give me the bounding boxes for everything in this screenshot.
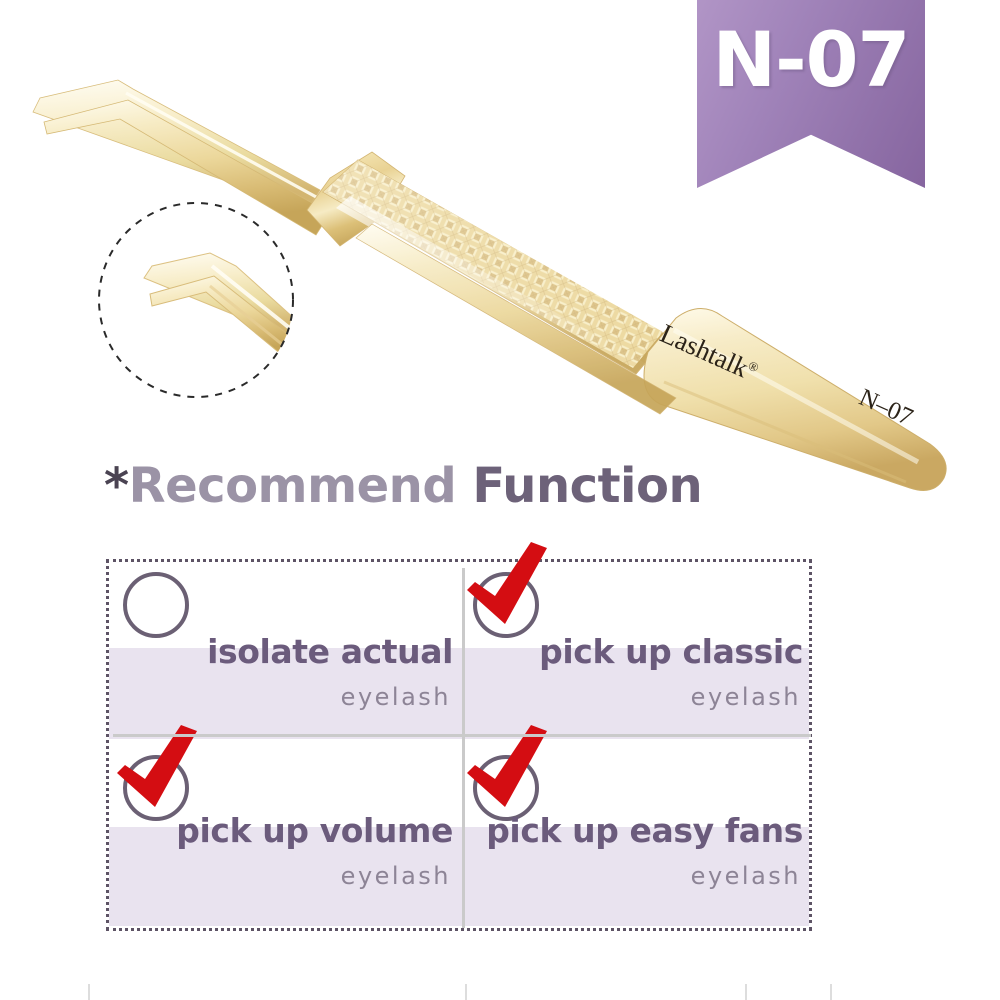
feature-title: pick up classic xyxy=(539,632,803,671)
red-check-icon xyxy=(461,540,565,644)
bottom-tick-mark xyxy=(465,984,467,1000)
marker-unchecked[interactable] xyxy=(121,570,193,642)
feature-title: pick up volume xyxy=(176,811,453,850)
bottom-tick-mark xyxy=(830,984,832,1000)
marker-checked[interactable] xyxy=(471,570,543,642)
feature-title: pick up easy fans xyxy=(486,811,803,850)
feature-title: isolate actual xyxy=(207,632,453,671)
product-infographic: N-07 xyxy=(0,0,1000,1000)
recommend-function-grid: isolate actual eyelash pick up classic e… xyxy=(106,559,812,931)
feature-subtitle: eyelash xyxy=(691,683,801,711)
tweezer-illustration xyxy=(0,0,1000,500)
feature-subtitle: eyelash xyxy=(691,862,801,890)
title-asterisk: * xyxy=(104,458,129,514)
feature-cell-isolate-actual[interactable]: isolate actual eyelash xyxy=(109,562,459,745)
feature-cell-pick-up-easy-fans[interactable]: pick up easy fans eyelash xyxy=(459,745,809,928)
feature-subtitle: eyelash xyxy=(341,862,451,890)
title-word-recommend: Recommend xyxy=(129,458,457,514)
bottom-tick-mark xyxy=(745,984,747,1000)
grid-divider-vertical xyxy=(462,568,465,928)
circle-outline-icon xyxy=(123,572,189,638)
title-word-function: Function xyxy=(472,458,702,514)
section-title: *Recommend Function xyxy=(104,458,702,514)
feature-cell-pick-up-classic[interactable]: pick up classic eyelash xyxy=(459,562,809,745)
product-photo: Lashtalk® N–07 xyxy=(0,0,1000,500)
bottom-tick-mark xyxy=(88,984,90,1000)
feature-subtitle: eyelash xyxy=(341,683,451,711)
grid-divider-horizontal xyxy=(113,734,811,737)
feature-cell-pick-up-volume[interactable]: pick up volume eyelash xyxy=(109,745,459,928)
magnified-tip-inset xyxy=(95,198,300,403)
